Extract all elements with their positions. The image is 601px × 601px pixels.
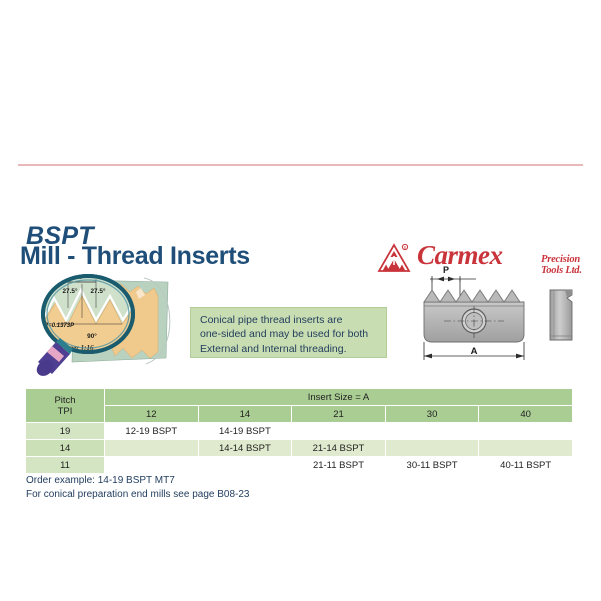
cell-14-21: 21-14 BSPT (292, 440, 386, 457)
cell-pitch-11: 11 (26, 457, 105, 474)
table-header-row-2: 12 14 21 30 40 (26, 406, 573, 423)
cell-14-12 (105, 440, 199, 457)
header-size-14: 14 (198, 406, 292, 423)
cell-19-40 (479, 423, 573, 440)
header-pitch-tpi: Pitch TPI (26, 389, 105, 423)
cell-19-21 (292, 423, 386, 440)
carmex-triangle-logo-icon: R (375, 242, 413, 274)
insert-side-view (550, 290, 572, 340)
table-body: 19 12-19 BSPT 14-19 BSPT 14 14-14 BSPT 2… (26, 423, 573, 474)
table-head: Pitch TPI Insert Size = A 12 14 21 30 40 (26, 389, 573, 423)
header-pitch-line2: TPI (58, 406, 73, 417)
reference-page-line: For conical preparation end mills see pa… (26, 488, 249, 502)
table-row: 14 14-14 BSPT 21-14 BSPT (26, 440, 573, 457)
label-angle-right: 27.5° (91, 287, 106, 295)
cell-11-21: 21-11 BSPT (292, 457, 386, 474)
order-example-line: Order example: 14-19 BSPT MT7 (26, 474, 249, 488)
header-size-12: 12 (105, 406, 199, 423)
table-header-row-1: Pitch TPI Insert Size = A (26, 389, 573, 406)
cell-11-30: 30-11 BSPT (385, 457, 479, 474)
cell-19-14: 14-19 BSPT (198, 423, 292, 440)
table-row: 19 12-19 BSPT 14-19 BSPT (26, 423, 573, 440)
cell-14-14: 14-14 BSPT (198, 440, 292, 457)
cell-pitch-14: 14 (26, 440, 105, 457)
insert-size-table: Pitch TPI Insert Size = A 12 14 21 30 40… (25, 388, 573, 474)
info-note-box: Conical pipe thread inserts are one-side… (190, 307, 387, 358)
cell-11-40: 40-11 BSPT (479, 457, 573, 474)
cell-pitch-19: 19 (26, 423, 105, 440)
insert-technical-drawing: P A (418, 262, 586, 368)
magnifier-thread-profile-illustration: P 27.5° 27.5° R=0.1373P 90° Taper 1:16 (26, 262, 192, 380)
insert-pitch-label: P (443, 265, 449, 275)
header-insert-size-group: Insert Size = A (105, 389, 573, 406)
header-divider (18, 164, 583, 166)
cell-19-12: 12-19 BSPT (105, 423, 199, 440)
note-line-1: Conical pipe thread inserts are (200, 313, 378, 327)
note-line-2: one-sided and may be used for both (200, 327, 378, 341)
cell-19-30 (385, 423, 479, 440)
header-size-30: 30 (385, 406, 479, 423)
header-size-21: 21 (292, 406, 386, 423)
label-included-angle: 90° (87, 332, 97, 340)
insert-size-label: A (471, 346, 478, 357)
section-title: BSPT (26, 222, 94, 251)
page-header: Mill - Thread Inserts R Carmex (0, 118, 601, 168)
cell-14-30 (385, 440, 479, 457)
note-line-3: External and Internal threading. (200, 342, 378, 356)
page-root: Mill - Thread Inserts R Carmex (0, 0, 601, 601)
table-row: 11 21-11 BSPT 30-11 BSPT 40-11 BSPT (26, 457, 573, 474)
label-angle-left: 27.5° (63, 287, 78, 295)
magnifier-handle (34, 338, 73, 379)
header-pitch-line1: Pitch (54, 395, 75, 406)
header-size-40: 40 (479, 406, 573, 423)
cell-11-14 (198, 457, 292, 474)
cell-11-12 (105, 457, 199, 474)
cell-14-40 (479, 440, 573, 457)
footer-notes: Order example: 14-19 BSPT MT7 For conica… (26, 474, 249, 502)
